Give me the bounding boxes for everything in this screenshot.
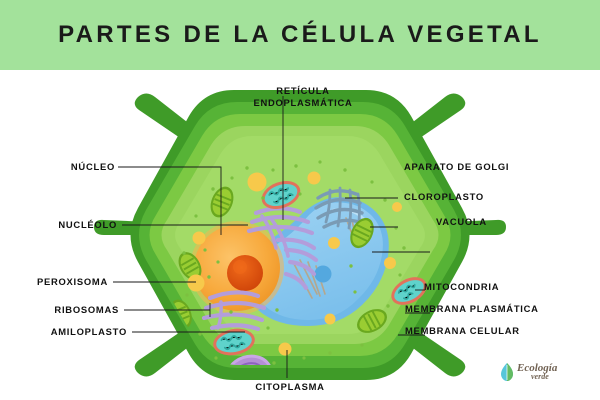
cell-diagram xyxy=(0,70,600,400)
label-reticula-line2: ENDOPLASMÁTICA xyxy=(248,97,358,109)
ecologia-verde-logo: Ecología verde xyxy=(500,362,557,382)
leaf-icon xyxy=(500,362,514,382)
label-vacuola: VACUOLA xyxy=(436,216,487,228)
label-citoplasma: CITOPLASMA xyxy=(240,381,340,393)
label-nucleolo: NUCLÉOLO xyxy=(12,219,117,231)
label-ribosomas: RIBOSOMAS xyxy=(16,304,119,316)
label-reticula-endoplasmatica: RETÍCULA ENDOPLASMÁTICA xyxy=(248,85,358,108)
nucleolus xyxy=(227,255,263,291)
vacuole-inclusion xyxy=(315,266,332,283)
title-banner: PARTES DE LA CÉLULA VEGETAL xyxy=(0,0,600,70)
label-mitocondria: MITOCONDRIA xyxy=(424,281,499,293)
label-amiloplasto: AMILOPLASTO xyxy=(12,326,127,338)
label-aparato-de-golgi: APARATO DE GOLGI xyxy=(404,161,509,173)
logo-secondary: verde xyxy=(531,373,557,381)
page-title: PARTES DE LA CÉLULA VEGETAL xyxy=(58,21,542,49)
plant-cell-infographic: PARTES DE LA CÉLULA VEGETAL xyxy=(0,0,600,400)
label-cloroplasto: CLOROPLASTO xyxy=(404,191,484,203)
logo-primary: Ecología xyxy=(517,364,557,372)
logo-wordmark: Ecología verde xyxy=(517,364,557,381)
label-membrana-celular: MEMBRANA CELULAR xyxy=(405,325,520,337)
label-reticula-line1: RETÍCULA xyxy=(248,85,358,97)
label-peroxisoma: PEROXISOMA xyxy=(5,276,108,288)
label-membrana-plasmatica: MEMBRANA PLASMÁTICA xyxy=(405,303,539,315)
label-nucleo: NÚCLEO xyxy=(20,161,115,173)
